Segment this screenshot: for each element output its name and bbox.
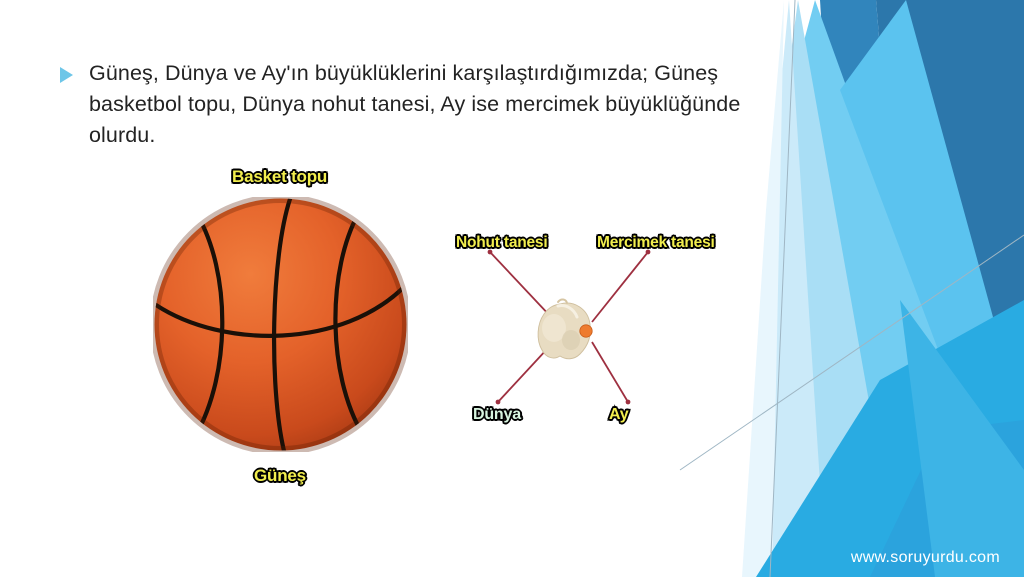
arrow-endpoint-dunya (496, 400, 501, 405)
decor-shape-dark-blue-2 (820, 0, 905, 355)
lentil-image (580, 325, 592, 337)
decor-shape-bottom-mid (900, 300, 1024, 577)
bullet-paragraph: Güneş, Dünya ve Ay'ın büyüklüklerini kar… (60, 58, 820, 152)
footer-watermark-url: www.soruyurdu.com (851, 549, 1000, 567)
arrow-chickpea-to-nohut-label (490, 252, 552, 318)
label-basket-topu: Basket topu (232, 167, 327, 187)
decor-shape-dark-blue (876, 0, 1024, 440)
arrow-endpoint-ay (626, 400, 631, 405)
triangle-right-icon (60, 67, 73, 83)
label-nohut-tanesi: Nohut tanesi (456, 234, 547, 252)
seeds-diagram (440, 230, 740, 430)
arrow-lentil-to-mercimek-label (592, 252, 648, 322)
bullet-text: Güneş, Dünya ve Ay'ın büyüklüklerini kar… (89, 58, 794, 152)
presentation-slide: Güneş, Dünya ve Ay'ın büyüklüklerini kar… (0, 0, 1024, 577)
label-gunes: Güneş (254, 466, 306, 486)
label-dunya: Dünya (473, 406, 521, 424)
decor-shape-light-blue-2 (840, 0, 1024, 577)
label-mercimek-tanesi: Mercimek tanesi (597, 234, 715, 252)
label-ay: Ay (609, 406, 628, 424)
basketball-image (153, 197, 408, 452)
decor-shape-bottom-bright (756, 300, 1024, 577)
arrow-chickpea-to-dunya-label (498, 348, 548, 402)
arrow-lentil-to-ay-label (592, 342, 628, 402)
